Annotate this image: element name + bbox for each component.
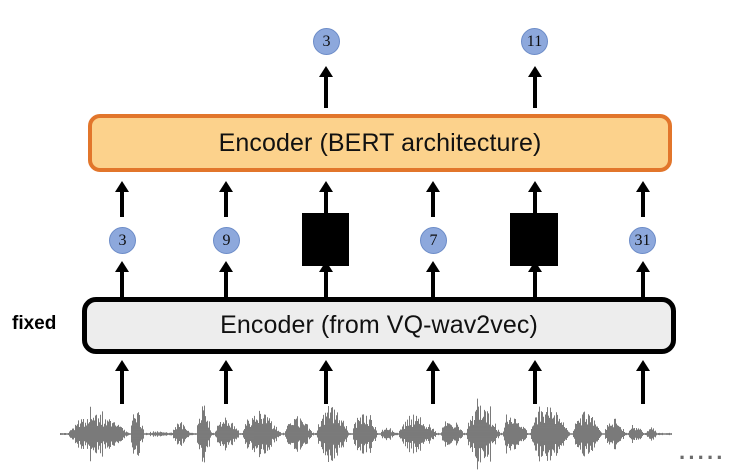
bert-input-arrow-col4 xyxy=(426,181,440,217)
vq-output-arrow-col1 xyxy=(115,261,129,299)
vq-output-arrow-col4 xyxy=(426,261,440,299)
diagram-canvas: 3 11 Encoder (BERT architecture) 3 9 7 3… xyxy=(0,0,737,473)
output-arrow-col3 xyxy=(319,66,333,108)
audio-waveform xyxy=(60,398,672,470)
vq-output-arrow-col6 xyxy=(636,261,650,299)
output-token-col3: 3 xyxy=(313,28,340,55)
vq-encoder-label: Encoder (from VQ-wav2vec) xyxy=(220,311,538,340)
output-arrow-col5 xyxy=(528,66,542,108)
vq-output-arrow-col5 xyxy=(528,261,542,299)
input-token-col1: 3 xyxy=(109,227,136,254)
fixed-label: fixed xyxy=(12,313,56,335)
waveform-ellipsis: ····· xyxy=(679,447,726,469)
mask-token-col5 xyxy=(510,213,558,266)
mask-token-col3 xyxy=(302,213,349,266)
output-token-col5: 11 xyxy=(521,28,548,55)
bert-input-arrow-col2 xyxy=(219,181,233,217)
vq-output-arrow-col3 xyxy=(319,261,333,299)
vq-output-arrow-col2 xyxy=(219,261,233,299)
bert-input-arrow-col6 xyxy=(636,181,650,217)
bert-encoder-box: Encoder (BERT architecture) xyxy=(88,114,672,172)
bert-input-arrow-col3 xyxy=(319,181,333,217)
bert-input-arrow-col5 xyxy=(528,181,542,217)
input-token-col6: 31 xyxy=(629,227,656,254)
input-token-col2: 9 xyxy=(213,227,240,254)
input-token-col4: 7 xyxy=(420,227,447,254)
vq-encoder-box: Encoder (from VQ-wav2vec) xyxy=(82,297,676,354)
bert-input-arrow-col1 xyxy=(115,181,129,217)
bert-encoder-label: Encoder (BERT architecture) xyxy=(219,129,542,158)
